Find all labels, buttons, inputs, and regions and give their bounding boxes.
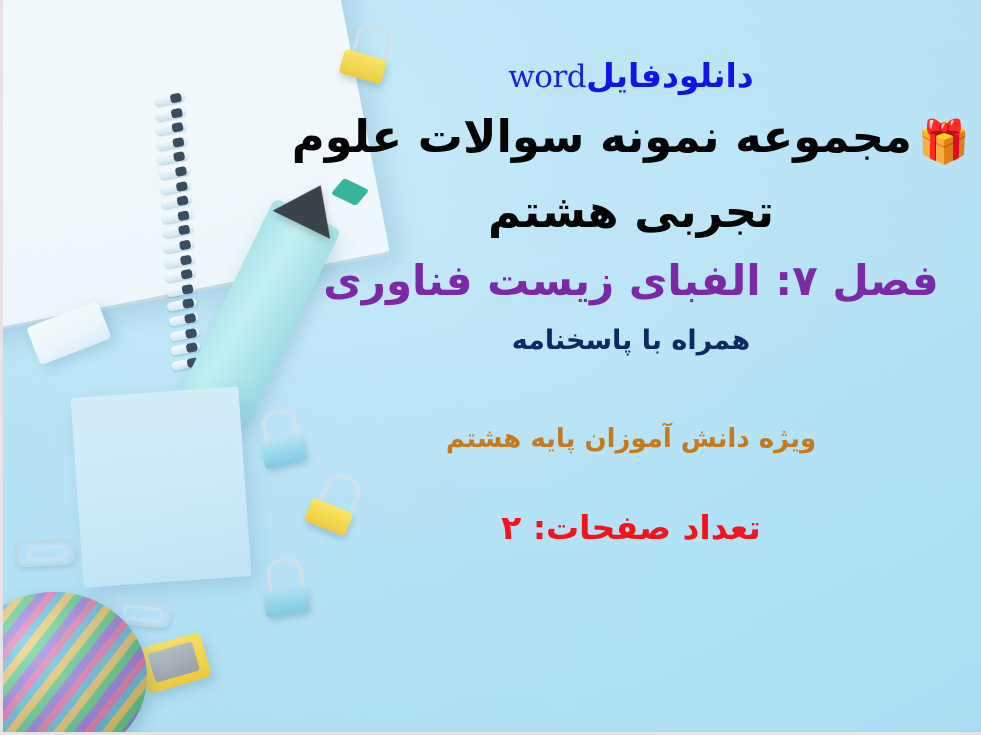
rubber-band-ball bbox=[0, 592, 147, 735]
text-content-block: دانلودفایلword 🎁مجموعه نمونه سوالات علوم… bbox=[281, 0, 981, 735]
blue-paper-pad bbox=[71, 386, 252, 587]
download-label: دانلودفایلword bbox=[281, 56, 981, 95]
page-title-line1-text: مجموعه نمونه سوالات علوم bbox=[292, 110, 912, 163]
notebook-spiral-ring bbox=[157, 136, 188, 151]
paper-clip bbox=[14, 538, 75, 567]
gift-icon: 🎁 bbox=[918, 117, 970, 167]
download-label-text: دانلودفایل bbox=[586, 56, 754, 95]
audience-note: ویژه دانش آموزان پایه هشتم bbox=[281, 424, 981, 454]
page-title-line1: 🎁مجموعه نمونه سوالات علوم bbox=[281, 110, 981, 167]
download-format-text: word bbox=[508, 59, 586, 95]
page-title-line2: تجربی هشتم bbox=[281, 185, 981, 238]
notebook-spiral-ring bbox=[155, 107, 186, 122]
notebook-spiral-ring bbox=[156, 121, 187, 136]
chapter-heading: فصل ۷: الفبای زیست فناوری bbox=[281, 256, 981, 305]
page-count-label: تعداد صفحات: ۲ bbox=[281, 508, 981, 547]
promo-slide: دانلودفایلword 🎁مجموعه نمونه سوالات علوم… bbox=[0, 0, 981, 735]
answer-key-note: همراه با پاسخنامه bbox=[281, 325, 981, 356]
